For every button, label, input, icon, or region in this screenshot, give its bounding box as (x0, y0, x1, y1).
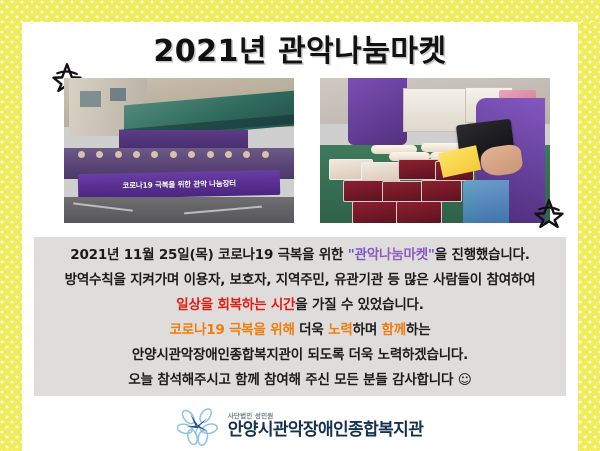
message-segment: 2021년 11월 25일(목) 코로나19 극복을 위한 (70, 247, 348, 263)
poster-title: 2021년 관악나눔마켓 (22, 24, 578, 72)
flower-pinwheel-logo-icon (177, 406, 219, 446)
message-line: 일상을 회복하는 시간을 가질 수 있었습니다. (34, 293, 566, 318)
message-segment: 함께 (382, 322, 406, 338)
message-panel: 2021년 11월 25일(목) 코로나19 극복을 위한 "관악나눔마켓"을 … (34, 237, 566, 396)
message-segment: 노력 (328, 322, 352, 338)
organization-logo: 사단법인 성민원 안양시관악장애인종합복지관 (0, 404, 600, 448)
message-segment: 안양시관악장애인종합복지관이 되도록 더욱 노력하겠습니다. (132, 347, 468, 363)
photo-banner-caption: 코로나19 극복을 위한 관악 나눔장터 (122, 178, 236, 191)
message-line: 2021년 11월 25일(목) 코로나19 극복을 위한 "관악나눔마켓"을 … (34, 243, 566, 268)
message-segment: "관악나눔마켓" (348, 247, 435, 263)
star-icon (534, 198, 564, 228)
message-segment: 을 진행했습니다. (435, 247, 530, 263)
logo-subtitle: 사단법인 성민원 (228, 413, 424, 420)
message-segment: 하며 (353, 322, 382, 338)
photo-banner-text-area: 코로나19 극복을 위한 관악 나눔장터 (78, 170, 281, 199)
message-segment: 오늘 참석해주시고 함께 참여해 주신 모든 분들 감사합니다 ☺ (128, 372, 471, 388)
message-line: 코로나19 극복을 위해 더욱 노력하며 함께하는 (34, 318, 566, 343)
border-left-dots (0, 0, 22, 451)
border-right-dots (578, 0, 600, 451)
logo-title: 안양시관악장애인종합복지관 (228, 422, 424, 439)
message-line: 안양시관악장애인종합복지관이 되도록 더욱 노력하겠습니다. (34, 343, 566, 368)
border-top-dots (0, 0, 600, 22)
message-segment: 코로나19 극복을 위해 (170, 322, 295, 338)
message-segment: 일상을 회복하는 시간 (176, 297, 295, 313)
poster-canvas: 2021년 관악나눔마켓 코로나19 극 (0, 0, 600, 451)
photo-group-banner: 코로나19 극복을 위한 관악 나눔장터 (64, 78, 294, 223)
message-line: 방역수칙을 지켜가며 이용자, 보호자, 지역주민, 유관기관 등 많은 사람들… (34, 268, 566, 293)
photo-market-stall (320, 78, 550, 223)
message-segment: 을 가질 수 있었습니다. (295, 297, 423, 313)
message-segment: 더욱 (295, 322, 328, 338)
message-segment: 방역수칙을 지켜가며 이용자, 보호자, 지역주민, 유관기관 등 많은 사람들… (65, 272, 536, 288)
message-segment: 하는 (406, 322, 430, 338)
message-line: 오늘 참석해주시고 함께 참여해 주신 모든 분들 감사합니다 ☺ (34, 368, 566, 393)
